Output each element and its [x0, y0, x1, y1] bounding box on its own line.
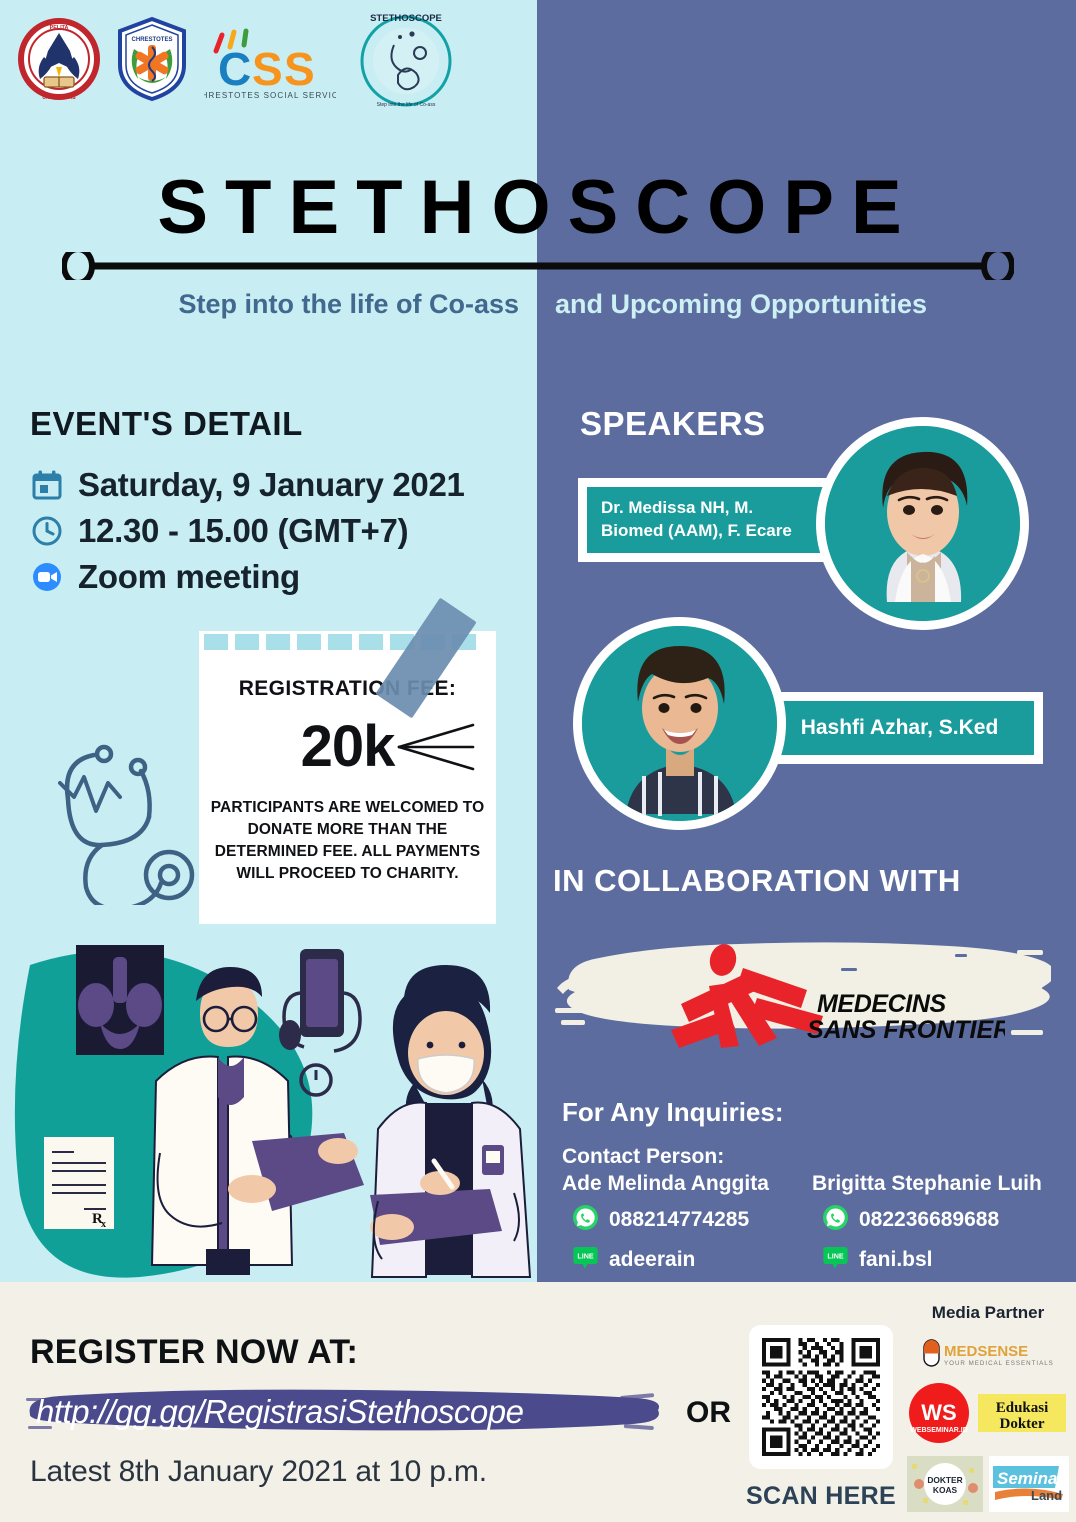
poster-subtitle-left: Step into the life of Co-ass: [0, 289, 537, 320]
poster-subtitle-right: and Upcoming Opportunities: [537, 289, 1076, 320]
contact-person-2: Brigitta Stephanie Luih 082236689688 LIN…: [812, 1172, 1076, 1276]
dokter-koas-logo: DOKTER KOAS: [907, 1456, 983, 1517]
stethoscope-rule-divider: [62, 252, 1014, 280]
organizer-logo-bar: PELITA UNIVERSITAS CHRESTOTES: [0, 0, 537, 118]
svg-text:C: C: [218, 43, 251, 95]
registration-fee-card: REGISTRATION FEE: 20k PARTICIPANTS ARE W…: [199, 631, 496, 924]
contact-person-1: Ade Melinda Anggita 088214774285 LINE ad…: [562, 1172, 832, 1276]
contact-2-line-row[interactable]: LINE fani.bsl: [812, 1244, 1076, 1276]
event-detail-list: Saturday, 9 January 2021 12.30 - 15.00 (…: [30, 462, 530, 600]
event-row-platform: Zoom meeting: [30, 554, 530, 600]
dokter-koas-sub: KOAS: [933, 1485, 958, 1495]
svg-text:S: S: [252, 43, 283, 95]
line-icon: LINE: [572, 1244, 599, 1276]
event-date-text: Saturday, 9 January 2021: [78, 466, 465, 504]
event-row-time: 12.30 - 15.00 (GMT+7): [30, 508, 530, 554]
poster-title-left-half: STETHOSCOPE: [0, 160, 537, 255]
svg-text:STETHOSCOPE: STETHOSCOPE: [370, 13, 442, 24]
media-partner-row-3: DOKTER KOAS Seminar Land: [906, 1456, 1070, 1517]
fee-arrow-rays-icon: [395, 721, 477, 780]
svg-text:CHRESTOTES: CHRESTOTES: [132, 37, 173, 43]
svg-text:x: x: [101, 1219, 106, 1230]
svg-text:S: S: [284, 43, 315, 95]
line-icon: LINE: [822, 1244, 849, 1276]
poster-title-text-right: STETHOSCOPE: [537, 160, 1076, 255]
contact-1-name: Ade Melinda Anggita: [562, 1172, 832, 1196]
registration-deadline: Latest 8th January 2021 at 10 p.m.: [30, 1455, 487, 1489]
svg-text:Step into the life of Co-ass: Step into the life of Co-ass: [377, 102, 436, 108]
svg-text:LINE: LINE: [577, 1252, 594, 1261]
qr-code[interactable]: [749, 1325, 893, 1469]
event-time-text: 12.30 - 15.00 (GMT+7): [78, 512, 408, 550]
medsense-label: MEDSENSE: [944, 1343, 1028, 1360]
medsense-logo: MEDSENSE YOUR MEDICAL ESSENTIALS: [918, 1336, 1058, 1375]
calendar-icon: [30, 468, 64, 502]
stethoscope-doodle-icon: [46, 735, 221, 925]
contact-1-line-row[interactable]: LINE adeerain: [562, 1244, 832, 1276]
poster-title-text-left: STETHOSCOPE: [0, 160, 537, 255]
zoom-camera-icon: [30, 560, 64, 594]
poster-title-right-half: STETHOSCOPE: [537, 160, 1076, 255]
register-now-heading: REGISTER NOW AT:: [30, 1333, 358, 1372]
css-logo: C S S CHRESTOTES SOCIAL SERVICE: [204, 15, 336, 103]
svg-text:PELITA: PELITA: [50, 25, 69, 31]
contact-2-name: Brigitta Stephanie Luih: [812, 1172, 1076, 1196]
land-label: Land: [1031, 1488, 1062, 1503]
msf-line1: MEDECINS: [817, 990, 946, 1018]
speaker-2-name: Hashfi Azhar, S.Ked: [765, 701, 1034, 755]
poster-subtitle: Step into the life of Co-ass and Upcomin…: [0, 284, 1076, 324]
speakers-heading: SPEAKERS: [580, 405, 766, 443]
collaboration-heading: IN COLLABORATION WITH: [553, 863, 961, 899]
speaker-2-nameplate: Hashfi Azhar, S.Ked: [756, 692, 1043, 764]
svg-text:CHRESTOTES SOCIAL SERVICE: CHRESTOTES SOCIAL SERVICE: [204, 91, 336, 100]
doctors-illustration: R x: [0, 905, 537, 1282]
clock-icon: [30, 514, 64, 548]
contact-2-whatsapp-number: 082236689688: [859, 1208, 999, 1232]
media-partner-row-2: WS WEBSEMINAR.ID Edukasi Dokter: [906, 1382, 1070, 1449]
fee-card-note: PARTICIPANTS ARE WELCOMED TO DONATE MORE…: [207, 797, 488, 885]
or-separator-label: OR: [686, 1396, 731, 1430]
inquiries-heading: For Any Inquiries:: [562, 1097, 784, 1128]
event-detail-heading: EVENT'S DETAIL: [30, 405, 303, 443]
scan-here-label: SCAN HERE: [746, 1482, 896, 1511]
webseminar-sub: WEBSEMINAR.ID: [910, 1427, 968, 1434]
fee-card-title: REGISTRATION FEE:: [199, 677, 496, 701]
media-partner-heading: Media Partner: [908, 1303, 1068, 1323]
stethoscope-circle-logo: STETHOSCOPE Step into the life of Co-ass: [350, 9, 460, 109]
universitas-pelita-harapan-logo: PELITA UNIVERSITAS: [18, 15, 100, 103]
media-partner-logos: MEDSENSE YOUR MEDICAL ESSENTIALS WS WEBS…: [906, 1336, 1070, 1522]
contact-2-line-id: fani.bsl: [859, 1248, 933, 1272]
webseminar-id-logo: WS WEBSEMINAR.ID: [908, 1382, 970, 1449]
edukasi-label: Edukasi: [996, 1400, 1049, 1416]
contact-1-whatsapp-row[interactable]: 088214774285: [562, 1204, 832, 1236]
dokter-label: Dokter: [1000, 1416, 1045, 1432]
contact-1-line-id: adeerain: [609, 1248, 695, 1272]
chrestotes-shield-logo: CHRESTOTES: [114, 15, 190, 103]
whatsapp-icon: [572, 1204, 599, 1236]
registration-url[interactable]: http://gg.gg/RegistrasiStethoscope: [36, 1389, 656, 1435]
medsense-sub: YOUR MEDICAL ESSENTIALS: [944, 1360, 1054, 1367]
msf-logo: MEDECINS SANS FRONTIERES: [665, 942, 1005, 1052]
event-row-date: Saturday, 9 January 2021: [30, 462, 530, 508]
speaker-photo-hashfi: [573, 617, 786, 830]
contact-person-label: Contact Person:: [562, 1143, 724, 1171]
event-platform-text: Zoom meeting: [78, 558, 300, 596]
contact-1-whatsapp-number: 088214774285: [609, 1208, 749, 1232]
dokter-koas-label: DOKTER: [927, 1475, 962, 1485]
whatsapp-icon: [822, 1204, 849, 1236]
seminar-label: Seminar: [997, 1469, 1065, 1488]
contact-2-whatsapp-row[interactable]: 082236689688: [812, 1204, 1076, 1236]
seminar-land-logo: Seminar Land: [989, 1456, 1069, 1517]
poster-root: PELITA UNIVERSITAS CHRESTOTES: [0, 0, 1076, 1522]
speaker-photo-medissa: [816, 417, 1029, 630]
svg-text:LINE: LINE: [827, 1252, 844, 1261]
webseminar-label: WS: [921, 1400, 956, 1425]
media-partner-row-1: MEDSENSE YOUR MEDICAL ESSENTIALS: [906, 1336, 1070, 1375]
edukasi-dokter-logo: Edukasi Dokter: [976, 1388, 1068, 1443]
svg-text:UNIVERSITAS: UNIVERSITAS: [42, 95, 76, 101]
msf-line2: SANS FRONTIERES: [807, 1016, 1005, 1044]
